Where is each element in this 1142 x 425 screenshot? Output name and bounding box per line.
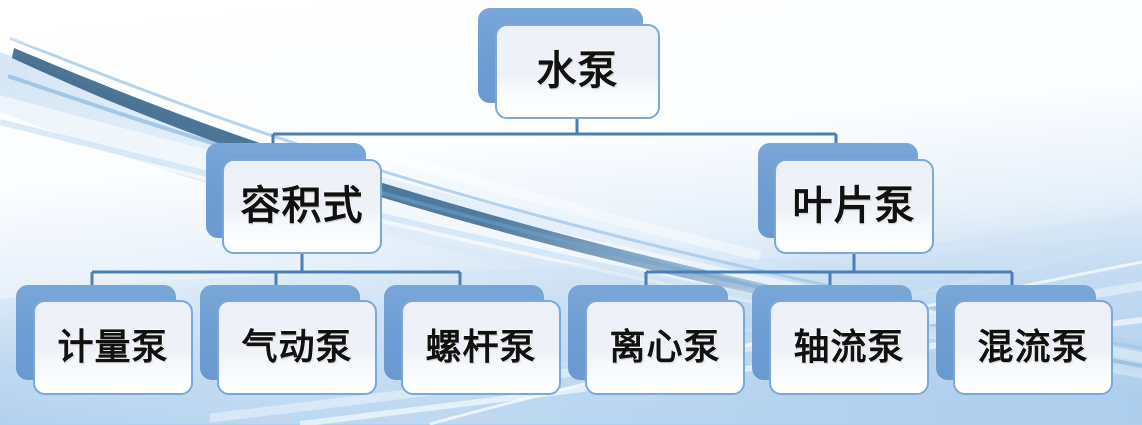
- node-card[interactable]: 混流泵: [953, 300, 1113, 395]
- node-label: 混流泵: [977, 329, 1088, 365]
- node-pneumatic-pump[interactable]: 气动泵: [200, 285, 377, 395]
- node-vane-pump[interactable]: 叶片泵: [758, 143, 934, 254]
- node-positive-displacement[interactable]: 容积式: [206, 143, 382, 254]
- node-screw-pump[interactable]: 螺杆泵: [384, 285, 561, 395]
- node-axial-flow-pump[interactable]: 轴流泵: [752, 285, 929, 395]
- node-card[interactable]: 离心泵: [585, 300, 745, 395]
- node-card[interactable]: 轴流泵: [769, 300, 929, 395]
- node-card[interactable]: 水泵: [495, 24, 660, 119]
- node-card[interactable]: 叶片泵: [774, 159, 934, 254]
- node-label: 轴流泵: [793, 329, 904, 365]
- node-mixed-flow-pump[interactable]: 混流泵: [936, 285, 1113, 395]
- node-label: 容积式: [241, 186, 364, 226]
- node-label: 气动泵: [241, 329, 352, 365]
- node-label: 叶片泵: [793, 186, 916, 226]
- node-label: 计量泵: [57, 329, 168, 365]
- node-label: 螺杆泵: [425, 329, 536, 365]
- node-root-water-pump[interactable]: 水泵: [478, 8, 660, 119]
- connector-root-to-level2: [273, 119, 836, 145]
- node-card[interactable]: 气动泵: [217, 300, 377, 395]
- node-label: 离心泵: [609, 329, 720, 365]
- node-label: 水泵: [537, 51, 619, 91]
- node-card[interactable]: 螺杆泵: [401, 300, 561, 395]
- node-metering-pump[interactable]: 计量泵: [16, 285, 193, 395]
- connector-vane-pump-to-children: [646, 254, 1012, 287]
- connector-positive-displacement-to-children: [92, 254, 460, 287]
- node-card[interactable]: 计量泵: [33, 300, 193, 395]
- node-centrifugal-pump[interactable]: 离心泵: [568, 285, 745, 395]
- node-card[interactable]: 容积式: [222, 159, 382, 254]
- diagram-canvas: 水泵 容积式 叶片泵 计量泵 气动泵 螺杆泵 离心泵: [0, 0, 1142, 425]
